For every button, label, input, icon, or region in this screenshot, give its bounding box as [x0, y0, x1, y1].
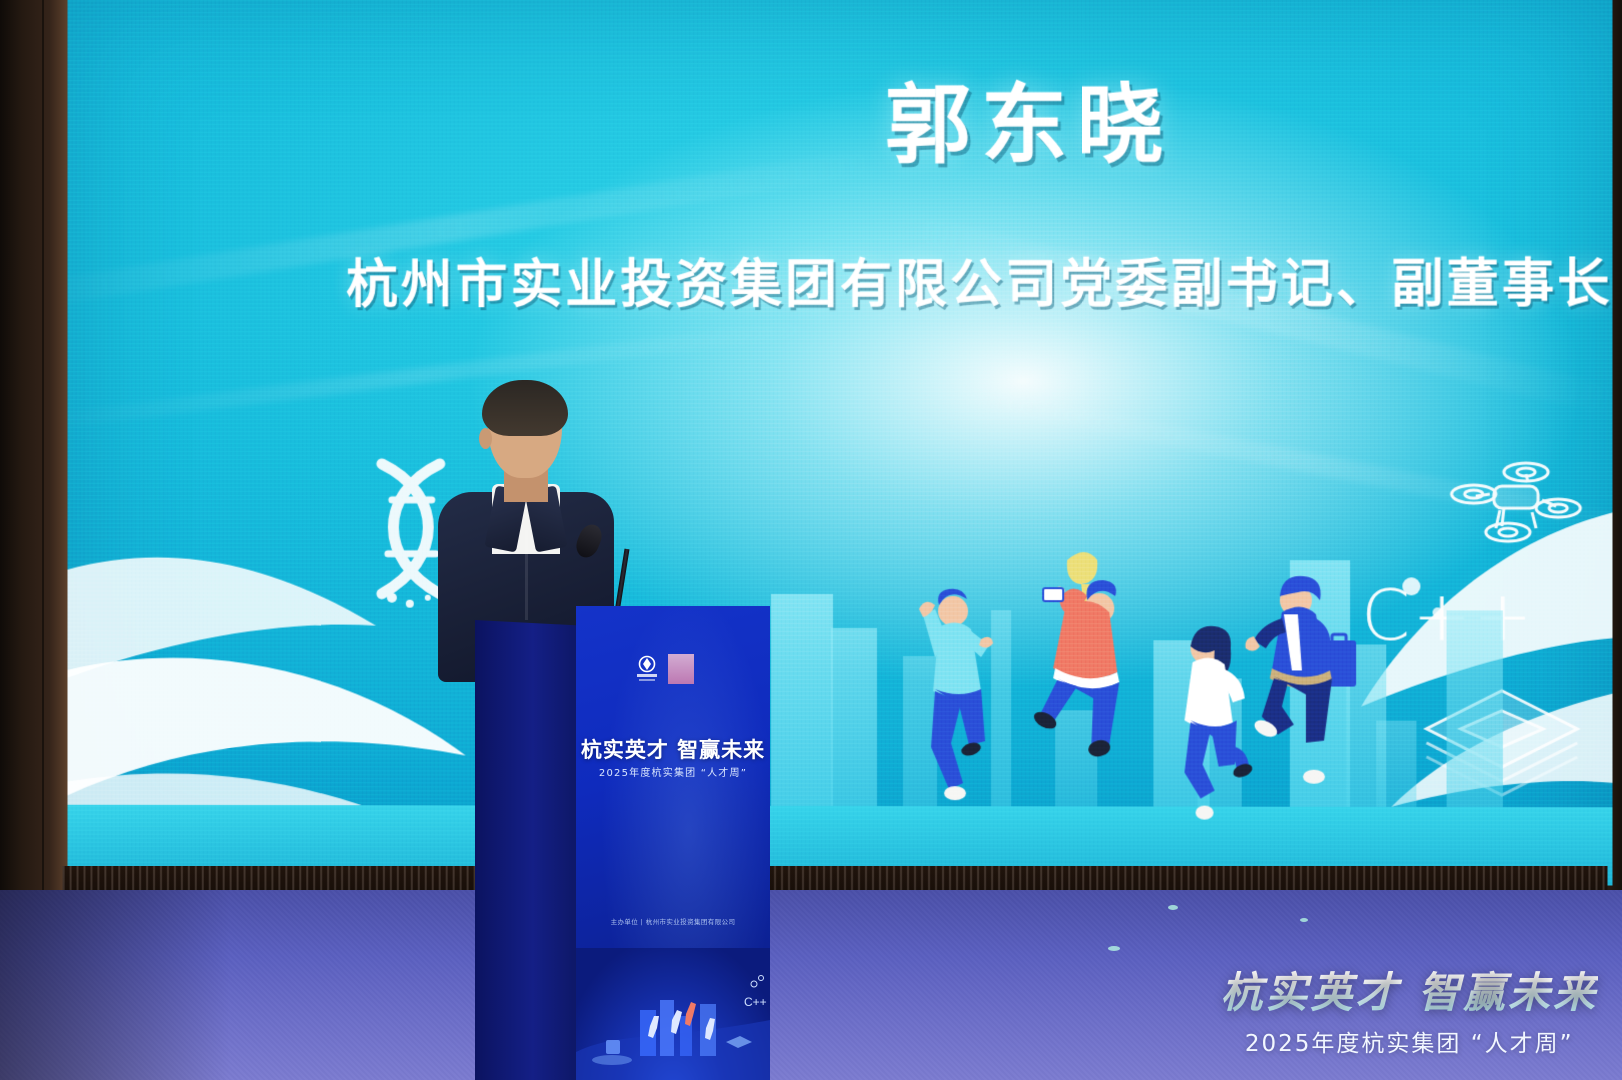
speaker-hair: [482, 380, 568, 436]
podium-logo-group: [634, 654, 694, 684]
led-screen: C++: [68, 0, 1613, 886]
led-pixel-grid: [68, 0, 1613, 886]
podium-headline: 杭实英才 智赢未来: [576, 734, 770, 764]
podium-left-side: [475, 620, 580, 1080]
floor-shadow: [0, 890, 230, 1080]
watermark-sub-text: 2025年度杭实集团 “人才周”: [1220, 1024, 1598, 1058]
svg-text:C++: C++: [744, 995, 767, 1009]
podium-front-panel: 杭实英才 智赢未来 2025年度杭实集团 “人才周” 主办单位 | 杭州市实业投…: [576, 606, 770, 1080]
floor-light-speck: [1168, 905, 1178, 910]
wall-seam: [42, 0, 44, 948]
talent-week-logo: [668, 654, 694, 684]
podium: 杭实英才 智赢未来 2025年度杭实集团 “人才周” 主办单位 | 杭州市实业投…: [475, 606, 770, 1080]
podium-bottom-illustration: C++: [576, 948, 770, 1080]
floor-light-speck: [1108, 946, 1120, 951]
podium-sponsor-line: 主办单位 | 杭州市实业投资集团有限公司: [576, 916, 770, 926]
stage-photo: C++: [0, 0, 1622, 1080]
floor-light-speck: [1300, 918, 1308, 922]
watermark-main-text: 杭实英才 智赢未来: [1220, 959, 1598, 1020]
hangshi-group-logo: [634, 654, 660, 684]
podium-subheadline: 2025年度杭实集团 “人才周”: [576, 764, 770, 779]
corner-watermark: 杭实英才 智赢未来 2025年度杭实集团 “人才周”: [1220, 959, 1598, 1058]
speaker-ear: [479, 428, 492, 449]
